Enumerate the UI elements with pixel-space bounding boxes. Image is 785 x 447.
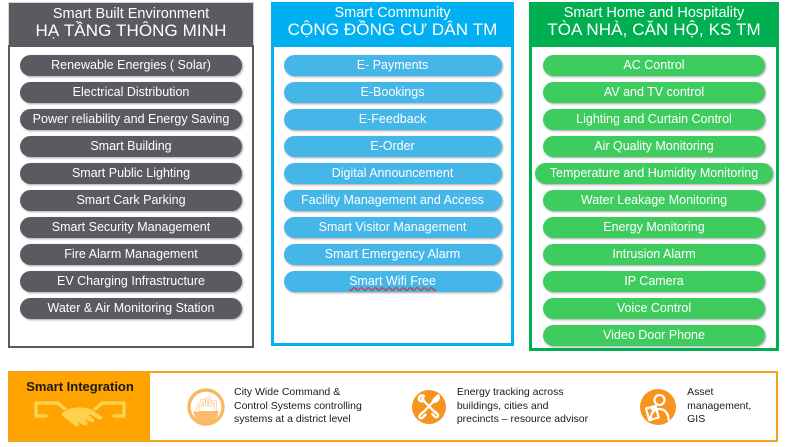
- pill-voice-control[interactable]: Voice Control: [543, 298, 765, 319]
- pill-av-and-tv-control[interactable]: AV and TV control: [543, 82, 765, 103]
- pill-ev-charging-infrastructure[interactable]: EV Charging Infrastructure: [20, 271, 242, 292]
- column-smart-built-environment: Smart Built Environment HẠ TẦNG THÔNG MI…: [8, 2, 254, 348]
- column-header-smart-home-and-hospitality: Smart Home and Hospitality TÒA NHÀ, CĂN …: [529, 2, 779, 44]
- pill-video-door-phone[interactable]: Video Door Phone: [543, 325, 765, 346]
- pill-fire-alarm-management[interactable]: Fire Alarm Management: [20, 244, 242, 265]
- column-header-smart-community: Smart Community CỘNG ĐỒNG CƯ DÂN TM: [271, 2, 514, 44]
- smart-integration-label: Smart Integration: [26, 379, 134, 394]
- smart-integration-banner: Smart Integration: [8, 371, 778, 442]
- smart-city-diagram: Smart Built Environment HẠ TẦNG THÔNG MI…: [0, 0, 785, 447]
- pill-water-leakage-monitoring[interactable]: Water Leakage Monitoring: [543, 190, 765, 211]
- integration-item-energy-tracking: Energy tracking across buildings, cities…: [410, 386, 588, 426]
- column-body-smart-home-and-hospitality: AC Control AV and TV control Lighting an…: [529, 44, 779, 351]
- pill-temperature-humidity[interactable]: Temperature and Humidity Monitoring: [535, 163, 773, 184]
- pill-e-bookings[interactable]: E-Bookings: [284, 82, 502, 103]
- column-title-en: Smart Home and Hospitality: [531, 6, 777, 21]
- column-body-smart-built-environment: Renewable Energies ( Solar) Electrical D…: [8, 45, 254, 348]
- pill-energy-monitoring[interactable]: Energy Monitoring: [543, 217, 765, 238]
- city-skyline-icon: [187, 388, 225, 426]
- pill-ip-camera[interactable]: IP Camera: [543, 271, 765, 292]
- pill-water-air-monitoring-station[interactable]: Water & Air Monitoring Station: [20, 298, 242, 319]
- pill-power-reliability[interactable]: Power reliability and Energy Saving: [20, 109, 242, 130]
- pill-e-payments[interactable]: E- Payments: [284, 55, 502, 76]
- pill-e-order[interactable]: E-Order: [284, 136, 502, 157]
- column-title-en: Smart Built Environment: [11, 7, 251, 22]
- pill-smart-cark-parking[interactable]: Smart Cark Parking: [20, 190, 242, 211]
- column-title-vi: CỘNG ĐỒNG CƯ DÂN TM: [273, 21, 512, 39]
- pill-smart-visitor-management[interactable]: Smart Visitor Management: [284, 217, 502, 238]
- pill-ac-control[interactable]: AC Control: [543, 55, 765, 76]
- pill-facility-management[interactable]: Facility Management and Access: [284, 190, 502, 211]
- pill-lighting-curtain-control[interactable]: Lighting and Curtain Control: [543, 109, 765, 130]
- column-title-vi: TÒA NHÀ, CĂN HỘ, KS TM: [531, 21, 777, 39]
- column-title-en: Smart Community: [273, 6, 512, 21]
- integration-item-asset-management: Asset management, GIS: [638, 386, 751, 426]
- column-smart-home-and-hospitality: Smart Home and Hospitality TÒA NHÀ, CĂN …: [529, 2, 779, 351]
- column-smart-community: Smart Community CỘNG ĐỒNG CƯ DÂN TM E- P…: [271, 2, 514, 346]
- handshake-icon: [32, 395, 128, 434]
- pill-smart-wifi-free-label: Smart Wifi Free: [349, 274, 436, 288]
- person-clipboard-icon: [638, 387, 678, 427]
- integration-item-text: Asset management, GIS: [687, 386, 751, 426]
- smart-integration-title-block: Smart Integration: [10, 373, 150, 440]
- pill-air-quality-monitoring[interactable]: Air Quality Monitoring: [543, 136, 765, 157]
- column-title-vi: HẠ TẦNG THÔNG MINH: [11, 22, 251, 40]
- pill-intrusion-alarm[interactable]: Intrusion Alarm: [543, 244, 765, 265]
- integration-item-city-wide-command: City Wide Command & Control Systems cont…: [187, 386, 362, 426]
- pill-smart-security-management[interactable]: Smart Security Management: [20, 217, 242, 238]
- pill-smart-wifi-free[interactable]: Smart Wifi Free: [284, 271, 502, 292]
- column-body-smart-community: E- Payments E-Bookings E-Feedback E-Orde…: [271, 44, 514, 346]
- pill-renewable-energies[interactable]: Renewable Energies ( Solar): [20, 55, 242, 76]
- integration-item-text: Energy tracking across buildings, cities…: [457, 386, 588, 426]
- pill-e-feedback[interactable]: E-Feedback: [284, 109, 502, 130]
- smart-integration-items: City Wide Command & Control Systems cont…: [150, 373, 776, 440]
- pill-electrical-distribution[interactable]: Electrical Distribution: [20, 82, 242, 103]
- pill-digital-announcement[interactable]: Digital Announcement: [284, 163, 502, 184]
- pill-smart-emergency-alarm[interactable]: Smart Emergency Alarm: [284, 244, 502, 265]
- hammer-wrench-icon: [410, 388, 448, 426]
- pill-smart-building[interactable]: Smart Building: [20, 136, 242, 157]
- pill-smart-public-lighting[interactable]: Smart Public Lighting: [20, 163, 242, 184]
- column-header-smart-built-environment: Smart Built Environment HẠ TẦNG THÔNG MI…: [8, 2, 254, 45]
- integration-item-text: City Wide Command & Control Systems cont…: [234, 386, 362, 426]
